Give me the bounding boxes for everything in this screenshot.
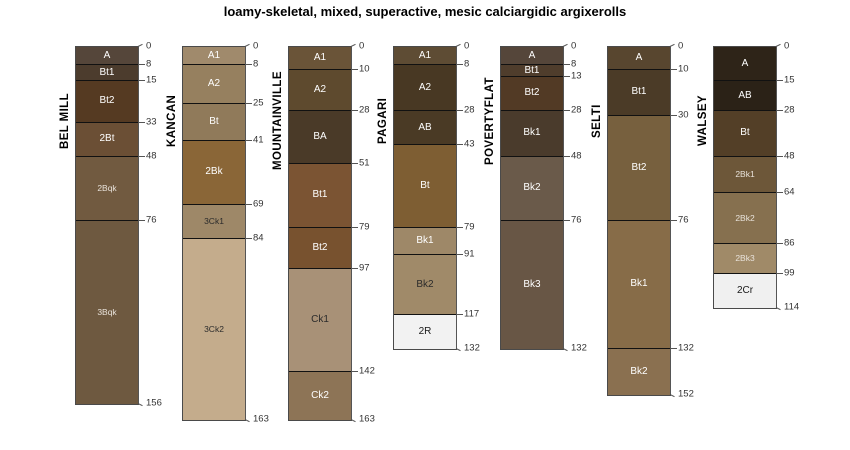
horizon-layer[interactable]: A <box>608 47 670 70</box>
axis-tick-label: 8 <box>571 59 576 70</box>
horizon-label: Bk1 <box>523 128 540 138</box>
horizon-label: A <box>529 51 536 61</box>
axis-tick <box>776 110 783 111</box>
axis-tick-label: 0 <box>146 41 151 52</box>
axis-tick <box>563 348 568 351</box>
horizon-layer[interactable]: Bt <box>183 104 245 141</box>
horizon-layer[interactable]: A1 <box>183 47 245 65</box>
axis-tick <box>351 110 358 111</box>
axis-tick-label: 163 <box>359 414 375 425</box>
axis-tick <box>351 69 358 70</box>
axis-tick-label: 86 <box>784 237 795 248</box>
axis-tick <box>670 348 677 349</box>
axis-tick-label: 25 <box>253 98 264 109</box>
horizon-label: 2Bk1 <box>735 170 754 179</box>
horizon-label: 2Bk <box>205 167 222 177</box>
horizon-layer[interactable]: A <box>714 47 776 81</box>
axis-tick-label: 28 <box>359 105 370 116</box>
horizon-layer[interactable]: Bt <box>394 145 456 227</box>
horizon-label: Bk2 <box>630 367 647 377</box>
horizon-label: Bt1 <box>99 68 114 78</box>
horizon-layer[interactable]: 2Bt <box>76 123 138 157</box>
horizon-label: Bk1 <box>630 279 647 289</box>
axis-tick <box>351 419 356 422</box>
horizon-layer[interactable]: AB <box>714 81 776 111</box>
horizon-layer[interactable]: Ck1 <box>289 269 351 372</box>
horizon-layer[interactable]: Bk2 <box>394 255 456 315</box>
axis-tick-label: 0 <box>784 41 789 52</box>
horizon-layer[interactable]: Ck2 <box>289 372 351 420</box>
axis-tick-label: 132 <box>571 343 587 354</box>
axis-tick-label: 8 <box>464 59 469 70</box>
axis-tick <box>456 348 461 351</box>
axis-tick <box>245 419 250 422</box>
horizon-layer[interactable]: Bt2 <box>289 228 351 269</box>
axis-line <box>138 46 139 403</box>
axis-tick <box>670 394 675 397</box>
horizon-layer[interactable]: 2Bk3 <box>714 244 776 274</box>
axis-tick <box>351 371 358 372</box>
horizon-layer[interactable]: 3Ck2 <box>183 239 245 420</box>
horizon-label: 3Bqk <box>97 308 116 317</box>
horizon-label: Bt1 <box>312 190 327 200</box>
axis-tick-label: 152 <box>678 388 694 399</box>
axis-tick <box>776 156 783 157</box>
horizon-layer[interactable]: Bk2 <box>608 349 670 395</box>
profile-name-label: WALSEY <box>697 46 709 196</box>
axis-tick <box>138 122 145 123</box>
horizon-label: 3Ck1 <box>204 217 224 226</box>
horizon-layer[interactable]: 2Bqk <box>76 157 138 221</box>
axis-tick-label: 97 <box>359 262 370 273</box>
axis-tick-label: 64 <box>784 187 795 198</box>
horizon-label: 2Bqk <box>97 184 116 193</box>
axis-tick-label: 51 <box>359 157 370 168</box>
horizon-label: Ck2 <box>311 391 329 401</box>
horizon-layer[interactable]: A2 <box>183 65 245 104</box>
axis-tick <box>138 44 143 47</box>
axis-line <box>456 46 457 348</box>
axis-tick <box>456 144 463 145</box>
page-title: loamy-skeletal, mixed, superactive, mesi… <box>0 4 850 19</box>
horizon-label: Bt1 <box>524 66 539 76</box>
profile-column[interactable]: AABBt2Bk12Bk22Bk32Cr <box>713 46 777 309</box>
axis-tick-label: 79 <box>359 221 370 232</box>
axis-tick <box>670 220 677 221</box>
axis-tick <box>456 314 463 315</box>
profile-name-label: PAGARI <box>377 46 389 196</box>
axis-tick <box>563 220 570 221</box>
horizon-layer[interactable]: A1 <box>394 47 456 65</box>
axis-tick-label: 41 <box>253 134 264 145</box>
axis-tick-label: 163 <box>253 414 269 425</box>
axis-tick <box>138 220 145 221</box>
horizon-label: 3Ck2 <box>204 325 224 334</box>
horizon-label: A <box>636 53 643 63</box>
axis-tick <box>138 403 143 406</box>
axis-tick <box>563 156 570 157</box>
axis-tick-label: 79 <box>464 221 475 232</box>
horizon-label: 2Bk3 <box>735 254 754 263</box>
axis-tick <box>776 192 783 193</box>
axis-tick-label: 0 <box>359 41 364 52</box>
horizon-label: Bk3 <box>523 280 540 290</box>
horizon-layer[interactable]: A <box>501 47 563 65</box>
horizon-label: Ck1 <box>311 315 329 325</box>
axis-tick <box>776 307 781 310</box>
profile-name-label: BEL MILL <box>59 46 71 196</box>
axis-line <box>245 46 246 419</box>
horizon-label: 2Cr <box>737 286 753 296</box>
horizon-label: A1 <box>208 51 220 61</box>
axis-tick <box>351 227 358 228</box>
axis-tick <box>776 44 781 47</box>
axis-tick-label: 8 <box>146 59 151 70</box>
profile-column[interactable]: A1A2BABt1Bt2Ck1Ck2 <box>288 46 352 421</box>
axis-tick <box>563 44 568 47</box>
axis-tick <box>776 273 783 274</box>
axis-tick <box>351 44 356 47</box>
horizon-layer[interactable]: Bt1 <box>289 164 351 228</box>
axis-tick <box>563 76 570 77</box>
horizon-layer[interactable]: 2Cr <box>714 274 776 308</box>
horizon-label: A2 <box>208 79 220 89</box>
profile-name-label: MOUNTAINVILLE <box>272 46 284 196</box>
profile-column[interactable]: A1A2ABBtBk1Bk22R <box>393 46 457 350</box>
horizon-label: Bt <box>740 128 749 138</box>
axis-line <box>563 46 564 348</box>
horizon-layer[interactable]: Bt <box>714 111 776 157</box>
axis-tick-label: 10 <box>678 63 689 74</box>
horizon-layer[interactable]: BA <box>289 111 351 164</box>
horizon-label: AB <box>418 123 431 133</box>
axis-tick-label: 132 <box>678 343 694 354</box>
horizon-layer[interactable]: A2 <box>289 70 351 111</box>
axis-tick <box>245 204 252 205</box>
axis-tick-label: 69 <box>253 198 264 209</box>
axis-tick <box>456 110 463 111</box>
axis-tick-label: 91 <box>464 249 475 260</box>
horizon-label: Bt2 <box>524 88 539 98</box>
axis-tick-label: 0 <box>678 41 683 52</box>
axis-tick <box>456 227 463 228</box>
axis-tick-label: 13 <box>571 70 582 81</box>
horizon-layer[interactable]: Bt2 <box>608 116 670 221</box>
axis-tick <box>245 238 252 239</box>
axis-tick-label: 28 <box>784 105 795 116</box>
axis-tick <box>456 64 463 65</box>
axis-tick-label: 48 <box>784 150 795 161</box>
profile-name-label: KANCAN <box>166 46 178 196</box>
horizon-label: A2 <box>314 85 326 95</box>
horizon-layer[interactable]: 3Bqk <box>76 221 138 404</box>
profile-column[interactable]: ABt1Bt22Bt2Bqk3Bqk <box>75 46 139 405</box>
axis-tick <box>456 44 461 47</box>
axis-tick-label: 76 <box>678 214 689 225</box>
horizon-label: Bt2 <box>99 96 114 106</box>
horizon-label: Bt1 <box>631 87 646 97</box>
axis-tick <box>456 254 463 255</box>
horizon-label: BA <box>313 132 326 142</box>
axis-tick-label: 10 <box>359 63 370 74</box>
axis-tick-label: 0 <box>253 41 258 52</box>
profile-column[interactable]: A1A2Bt2Bk3Ck13Ck2 <box>182 46 246 421</box>
axis-tick <box>245 64 252 65</box>
axis-tick-label: 132 <box>464 343 480 354</box>
axis-tick <box>670 69 677 70</box>
horizon-layer[interactable]: AB <box>394 111 456 145</box>
horizon-layer[interactable]: Bt2 <box>76 81 138 122</box>
horizon-label: Bt <box>420 181 429 191</box>
horizon-layer[interactable]: 3Ck1 <box>183 205 245 239</box>
axis-tick-label: 28 <box>571 105 582 116</box>
horizon-label: Bk1 <box>416 236 433 246</box>
horizon-layer[interactable]: Bk2 <box>501 157 563 221</box>
axis-tick <box>563 110 570 111</box>
horizon-layer[interactable]: A2 <box>394 65 456 111</box>
horizon-label: A1 <box>419 51 431 61</box>
profile-name-label: POVERTYFLAT <box>484 46 496 196</box>
horizon-layer[interactable]: Bk1 <box>394 228 456 255</box>
axis-tick-label: 0 <box>571 41 576 52</box>
horizon-label: 2Bt <box>99 134 114 144</box>
depth-axis: 0152848648699114 <box>776 46 816 307</box>
horizon-label: Bk2 <box>523 183 540 193</box>
axis-tick <box>351 268 358 269</box>
axis-tick-label: 76 <box>571 214 582 225</box>
horizon-label: 2R <box>419 327 432 337</box>
horizon-label: 2Bk2 <box>735 214 754 223</box>
horizon-label: A1 <box>314 53 326 63</box>
axis-tick <box>138 156 145 157</box>
horizon-layer[interactable]: Bt1 <box>608 70 670 116</box>
axis-tick <box>670 44 675 47</box>
axis-tick-label: 76 <box>146 214 157 225</box>
horizon-layer[interactable]: 2Bk1 <box>714 157 776 194</box>
horizon-layer[interactable]: 2Bk <box>183 141 245 205</box>
axis-tick <box>776 243 783 244</box>
horizon-layer[interactable]: A1 <box>289 47 351 70</box>
axis-line <box>776 46 777 307</box>
horizon-label: Bt2 <box>312 243 327 253</box>
axis-tick-label: 114 <box>784 301 799 312</box>
horizon-layer[interactable]: 2R <box>394 315 456 349</box>
axis-tick-label: 48 <box>146 150 157 161</box>
horizon-layer[interactable]: Bk1 <box>608 221 670 349</box>
axis-tick <box>245 44 250 47</box>
profile-column[interactable]: ABt1Bt2Bk1Bk2 <box>607 46 671 396</box>
axis-tick <box>351 163 358 164</box>
axis-tick <box>670 115 677 116</box>
axis-tick-label: 15 <box>146 75 157 86</box>
axis-tick-label: 43 <box>464 139 475 150</box>
axis-tick-label: 142 <box>359 365 375 376</box>
axis-tick <box>776 80 783 81</box>
axis-tick <box>245 103 252 104</box>
axis-tick-label: 117 <box>464 308 479 319</box>
horizon-layer[interactable]: Bt2 <box>501 77 563 111</box>
axis-tick-label: 33 <box>146 116 157 127</box>
horizon-layer[interactable]: Bk3 <box>501 221 563 349</box>
profile-name-label: SELTI <box>591 46 603 196</box>
horizon-label: Bt <box>209 117 218 127</box>
horizon-label: A <box>742 59 749 69</box>
horizon-label: Bk2 <box>416 280 433 290</box>
horizon-label: Bt2 <box>631 163 646 173</box>
axis-tick-label: 15 <box>784 75 795 86</box>
horizon-label: AB <box>738 91 751 101</box>
horizon-layer[interactable]: 2Bk2 <box>714 193 776 243</box>
horizon-layer[interactable]: Bt1 <box>76 65 138 81</box>
axis-tick-label: 99 <box>784 267 795 278</box>
axis-tick <box>138 80 145 81</box>
axis-tick <box>138 64 145 65</box>
horizon-layer[interactable]: Bk1 <box>501 111 563 157</box>
axis-tick <box>245 140 252 141</box>
axis-tick-label: 0 <box>464 41 469 52</box>
horizon-layer[interactable]: Bt1 <box>501 65 563 76</box>
horizon-label: A2 <box>419 83 431 93</box>
axis-tick-label: 28 <box>464 105 475 116</box>
axis-tick-label: 156 <box>146 398 162 409</box>
axis-line <box>351 46 352 419</box>
profile-column[interactable]: ABt1Bt2Bk1Bk2Bk3 <box>500 46 564 350</box>
axis-tick-label: 84 <box>253 233 264 244</box>
axis-tick-label: 30 <box>678 109 689 120</box>
axis-tick-label: 48 <box>571 150 582 161</box>
horizon-label: A <box>104 51 111 61</box>
horizon-layer[interactable]: A <box>76 47 138 65</box>
axis-tick <box>563 64 570 65</box>
axis-tick-label: 8 <box>253 59 258 70</box>
